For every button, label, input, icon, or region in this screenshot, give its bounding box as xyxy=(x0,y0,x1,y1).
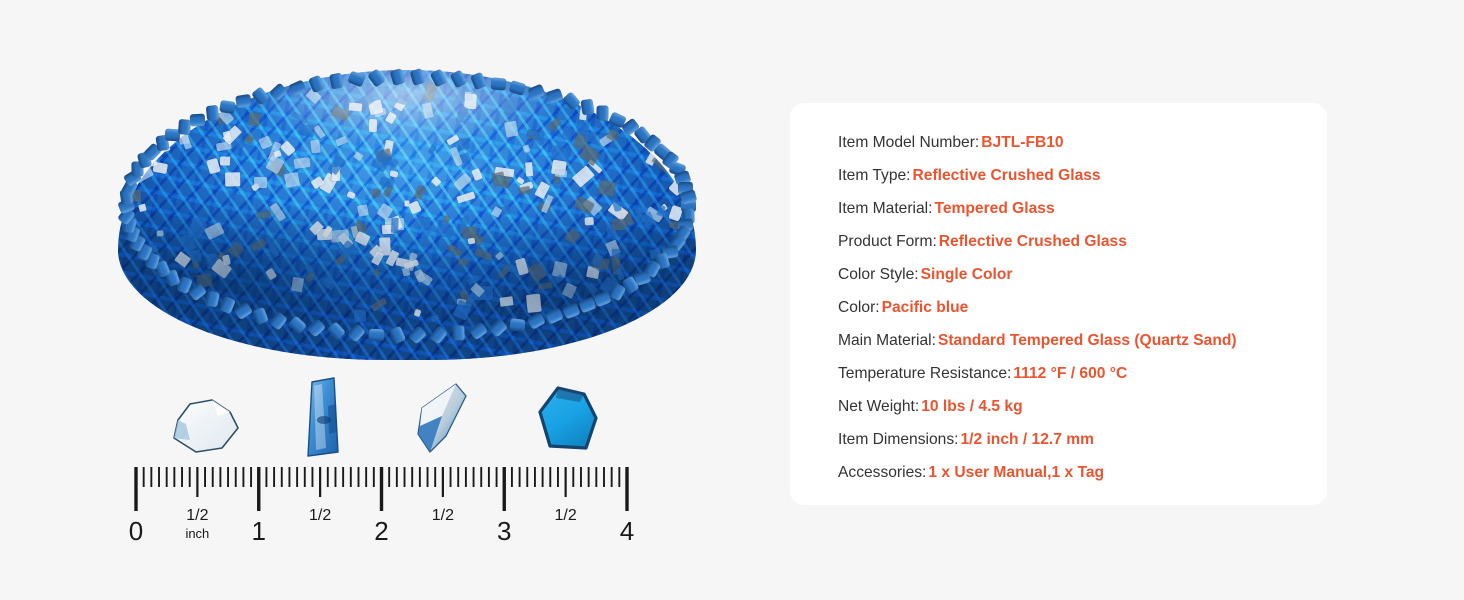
ruler-unit-label: inch xyxy=(185,526,209,541)
spec-value: Pacific blue xyxy=(882,299,969,316)
glass-rim-stone xyxy=(410,68,426,86)
glass-rim-stone xyxy=(545,308,564,325)
glass-rim-stone xyxy=(527,83,545,100)
spec-label: Main Material: xyxy=(838,332,936,349)
spec-value: Standard Tempered Glass (Quartz Sand) xyxy=(938,332,1237,349)
tall-blue-prism-fragment xyxy=(300,376,344,460)
product-infographic: 012341/2inch1/21/21/2 Item Model Number:… xyxy=(0,0,1464,600)
glass-rim-stone xyxy=(347,71,365,88)
solid-blue-pentagon-fragment xyxy=(536,384,602,456)
glass-rim-stone xyxy=(489,319,508,338)
glass-rim-stone xyxy=(369,328,385,341)
glass-rim-stone xyxy=(253,307,270,325)
ruler-half-label: 1/2 xyxy=(555,507,577,524)
mirrored-angular-fragment xyxy=(412,382,472,458)
ruler-whole-label: 2 xyxy=(374,516,388,546)
glass-rim-stone xyxy=(452,325,465,341)
glass-rim-stone xyxy=(269,82,288,101)
spec-row: Color:Pacific blue xyxy=(838,291,1309,324)
glass-rim-stone xyxy=(251,87,270,106)
clear-pale-glass-fragment xyxy=(160,394,246,458)
spec-label: Color: xyxy=(838,299,880,316)
spec-row: Color Style:Single Color xyxy=(838,258,1309,291)
glass-rim-stone xyxy=(469,322,488,341)
spec-value: Reflective Crushed Glass xyxy=(939,233,1127,250)
glass-rim-stone xyxy=(308,75,325,93)
ruler-whole-label: 4 xyxy=(620,516,634,546)
glass-rim-stone xyxy=(205,291,220,308)
spec-label: Item Model Number: xyxy=(838,134,979,151)
spec-label: Color Style: xyxy=(838,266,919,283)
crushed-glass-pile-image xyxy=(118,70,696,360)
glass-rim-stone xyxy=(597,106,609,121)
glass-rim-stone xyxy=(347,324,366,343)
spec-label: Net Weight: xyxy=(838,398,919,415)
glass-rim-stone xyxy=(219,100,236,114)
glass-rim-stone xyxy=(329,73,344,90)
glass-rim-stone xyxy=(367,68,386,87)
glass-rim-stone xyxy=(408,326,427,345)
specification-card: Item Model Number:BJTL-FB10Item Type:Ref… xyxy=(790,103,1327,505)
glass-rim-stone xyxy=(219,296,236,314)
spec-row: Temperature Resistance:1112 °F / 600 °C xyxy=(838,357,1309,390)
spec-row: Item Model Number:BJTL-FB10 xyxy=(838,126,1309,159)
spec-label: Item Material: xyxy=(838,200,932,217)
glass-rim-stone xyxy=(450,70,468,89)
glass-rim-stone xyxy=(429,325,448,344)
spec-row: Net Weight:10 lbs / 4.5 kg xyxy=(838,390,1309,423)
spec-label: Accessories: xyxy=(838,464,926,481)
glass-rim-stone xyxy=(470,72,487,90)
glass-rim-stone xyxy=(527,312,546,330)
spec-value: 10 lbs / 4.5 kg xyxy=(921,398,1022,415)
glass-rim-stone xyxy=(545,88,563,104)
glass-rim-stone xyxy=(562,92,581,111)
spec-label: Item Dimensions: xyxy=(838,431,958,448)
glass-rim-stone xyxy=(389,326,406,345)
glass-rim-stone xyxy=(234,302,253,320)
inch-ruler: 012341/2inch1/21/21/2 xyxy=(0,462,760,562)
glass-rim-stone xyxy=(562,303,580,320)
spec-value: Reflective Crushed Glass xyxy=(913,167,1101,184)
ruler-half-label: 1/2 xyxy=(186,507,208,524)
glass-rim-stone xyxy=(205,105,219,121)
spec-row: Main Material:Standard Tempered Glass (Q… xyxy=(838,324,1309,357)
glass-rim-stone xyxy=(580,99,594,116)
ruler-half-label: 1/2 xyxy=(309,507,331,524)
ruler-whole-label: 0 xyxy=(129,516,143,546)
product-photo-panel: 012341/2inch1/21/21/2 xyxy=(0,0,760,600)
spec-row: Item Material:Tempered Glass xyxy=(838,192,1309,225)
glass-rim-stone xyxy=(288,79,307,96)
spec-row: Item Type:Reflective Crushed Glass xyxy=(838,159,1309,192)
spec-row: Item Dimensions:1/2 inch / 12.7 mm xyxy=(838,423,1309,456)
ruler-half-label: 1/2 xyxy=(432,507,454,524)
spec-value: 1 x User Manual,1 x Tag xyxy=(928,464,1104,481)
spec-value: Tempered Glass xyxy=(934,200,1054,217)
glass-pile-rim-stones xyxy=(118,70,696,360)
ruler-whole-label: 3 xyxy=(497,516,511,546)
glass-rim-stone xyxy=(235,94,252,108)
glass-rim-stone xyxy=(188,283,207,302)
spec-value: BJTL-FB10 xyxy=(981,134,1063,151)
spec-label: Product Form: xyxy=(838,233,937,250)
spec-row: Product Form:Reflective Crushed Glass xyxy=(838,225,1309,258)
glass-rim-stone xyxy=(307,319,326,338)
glass-rim-stone xyxy=(327,322,346,341)
glass-rim-stone xyxy=(430,69,448,88)
spec-label: Item Type: xyxy=(838,167,911,184)
spec-value: 1112 °F / 600 °C xyxy=(1013,365,1127,382)
glass-rim-stone xyxy=(389,68,405,86)
spec-row: Accessories:1 x User Manual,1 x Tag xyxy=(838,456,1309,489)
fragment-sample-row xyxy=(0,376,760,462)
glass-rim-stone xyxy=(288,316,307,335)
glass-rim-stone xyxy=(490,78,506,91)
glass-rim-stone xyxy=(190,114,206,127)
specification-list: Item Model Number:BJTL-FB10Item Type:Ref… xyxy=(838,126,1309,489)
glass-rim-stone xyxy=(269,311,288,330)
glass-rim-stone xyxy=(509,318,525,332)
spec-value: 1/2 inch / 12.7 mm xyxy=(960,431,1093,448)
spec-label: Temperature Resistance: xyxy=(838,365,1011,382)
spec-value: Single Color xyxy=(921,266,1013,283)
ruler-whole-label: 1 xyxy=(252,516,266,546)
glass-rim-stone xyxy=(509,80,527,96)
